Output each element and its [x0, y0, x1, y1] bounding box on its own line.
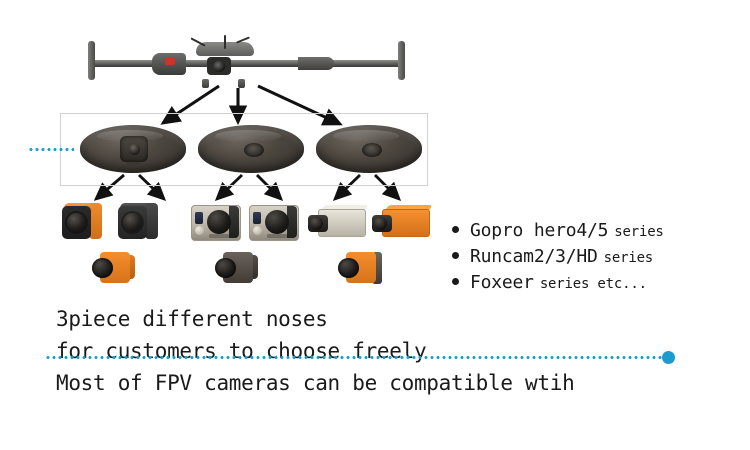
drone-illustration	[40, 33, 450, 93]
camera-dial	[195, 226, 204, 235]
nose-chin-vent	[126, 162, 141, 167]
drone-mount-left	[202, 79, 209, 88]
camera-micro-fpv-orange-b	[338, 250, 384, 286]
camera-gopro-hero-silver-a	[191, 205, 239, 239]
nose-cone-2	[198, 125, 304, 173]
drone-winglet-right	[398, 41, 405, 80]
list-item: Gopro hero4/5 series	[452, 220, 722, 241]
drone-camera-housing	[207, 57, 231, 75]
camera-runcam-cube-orange	[62, 203, 102, 241]
camera-lens	[67, 213, 86, 232]
drone-winglet-left	[88, 41, 95, 80]
nose-highlight	[215, 130, 281, 142]
drone-antenna-vertical	[224, 35, 226, 49]
nose-square-camera-port	[120, 136, 148, 162]
camera-lens	[92, 258, 113, 278]
caption-line-2: for customers to choose freely	[56, 339, 426, 363]
list-item-name: Runcam2/3/HD	[470, 246, 598, 267]
accent-dot-endpoint	[662, 351, 675, 364]
camera-micro-fpv-dark	[215, 250, 261, 286]
camera-gopro-hero-silver-b	[249, 205, 297, 239]
camera-dial	[253, 226, 262, 235]
bullet-dot-icon	[452, 226, 459, 233]
camera-lens	[215, 258, 236, 278]
list-item-suffix: series	[604, 250, 653, 266]
caption-line-1: 3piece different noses	[56, 307, 328, 331]
nose-cone-3	[316, 125, 422, 173]
bullet-dot-icon	[452, 278, 459, 285]
camera-screen	[195, 212, 203, 224]
list-item: Foxeer series etc...	[452, 272, 722, 293]
nose-round-camera-port	[362, 143, 382, 157]
camera-ccd-box-orange	[372, 205, 430, 239]
camera-gopro-session-black	[118, 203, 158, 241]
camera-lens	[338, 258, 359, 278]
list-item: Runcam2/3/HD series	[452, 246, 722, 267]
accent-dotted-line-bottom	[45, 356, 666, 359]
accent-dotted-line-left	[28, 148, 74, 151]
camera-label	[209, 234, 229, 238]
list-item-name: Gopro hero4/5	[470, 220, 608, 241]
camera-ccd-box-white	[308, 205, 366, 239]
drone-red-marker	[165, 57, 175, 65]
camera-lens	[123, 213, 142, 232]
nose-cone-1	[80, 125, 186, 173]
camera-lens	[372, 215, 392, 232]
camera-lens	[308, 215, 328, 232]
list-item-name: Foxeer	[470, 272, 534, 293]
drone-tail-cone	[298, 57, 334, 70]
camera-screen	[253, 212, 261, 224]
compatibility-list: Gopro hero4/5 series Runcam2/3/HD series…	[452, 220, 722, 298]
drone-mount-right	[238, 79, 245, 88]
infographic-canvas: Gopro hero4/5 series Runcam2/3/HD series…	[0, 0, 750, 450]
bullet-dot-icon	[452, 252, 459, 259]
caption-line-3: Most of FPV cameras can be compatible wt…	[56, 371, 574, 395]
camera-label	[267, 234, 287, 238]
camera-lens	[265, 210, 289, 234]
nose-highlight	[333, 130, 399, 142]
list-item-suffix: series	[614, 224, 663, 240]
camera-lens	[207, 210, 231, 234]
nose-round-camera-port	[244, 143, 264, 157]
camera-micro-fpv-orange-a	[92, 250, 138, 286]
drone-camera-lens	[213, 61, 225, 72]
list-item-suffix: series etc...	[540, 276, 647, 292]
